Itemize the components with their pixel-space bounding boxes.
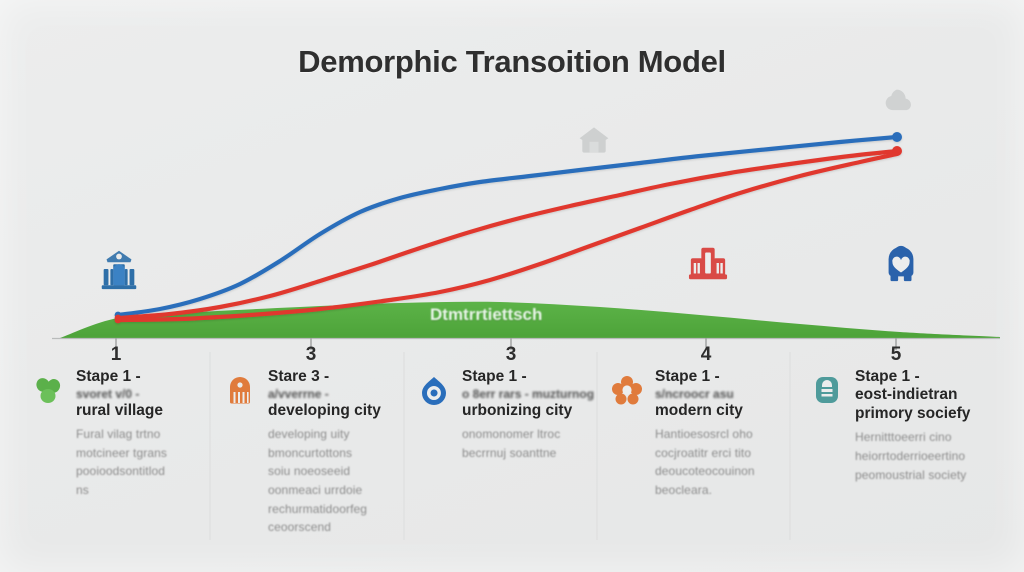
stage-body: Hernitttoeerri cino heiorrtoderrioeertin… (855, 428, 1010, 484)
stage-card-1[interactable]: Stape 1 - svoret v/0 - rural village Fur… (76, 368, 226, 500)
stage-heading: Stape 1 - (76, 368, 226, 386)
stage-list: Stape 1 - svoret v/0 - rural village Fur… (0, 368, 1024, 568)
axis-label-4: 4 (686, 344, 726, 366)
stage-card-4[interactable]: Stape 1 - s/ncroocr asu modern city Hant… (655, 368, 805, 500)
stage-heading: Stape 1 - (462, 368, 622, 386)
blue-temple-icon (96, 246, 142, 292)
stage-heading: Stape 1 - (855, 368, 1010, 386)
stage-body: Fural vilag trtno motcineer tgrans pooio… (76, 425, 226, 499)
stage-body: developing uity bmoncurtottons soiu noeo… (268, 425, 426, 537)
blue-curve-end-dot (892, 132, 902, 142)
stage-subtitle: modern city (655, 402, 805, 421)
infographic-canvas: Demorphic Transoition Model (0, 0, 1024, 572)
blue-person-icon (880, 242, 922, 284)
red-factory-icon (688, 243, 728, 283)
stage-subheading-blurred: a/vverrne - (268, 387, 426, 401)
stage-subtitle: developing city (268, 402, 426, 421)
axis-label-2: 3 (291, 344, 331, 366)
axis-label-1: 1 (96, 344, 136, 366)
stage-heading: Stape 1 - (655, 368, 805, 386)
band-label: Dtmtrrtiettsch (430, 305, 542, 325)
orange-flower-icon (611, 374, 643, 406)
stage-card-5[interactable]: Stape 1 - eost-indietran primory sociefy… (855, 368, 1010, 484)
teal-device-icon (811, 374, 843, 406)
stage-subtitle: urbonizing city (462, 402, 622, 421)
blue-droplet-icon (418, 374, 450, 406)
stage-subheading-blurred: o 8err rars - muzturnog (462, 387, 622, 401)
green-clover-icon (32, 374, 64, 406)
stage-card-2[interactable]: Stare 3 - a/vverrne - developing city de… (268, 368, 426, 537)
red-curve-lower-start-dot (115, 317, 122, 324)
stage-heading: Stare 3 - (268, 368, 426, 386)
gray-house-icon (576, 122, 612, 158)
stage-body: onomonomer ltroc becrrnuj soanttne (462, 425, 622, 462)
stage-subheading-blurred: s/ncroocr asu (655, 387, 805, 401)
red-curve-upper (118, 151, 897, 318)
stage-subtitle: eost-indietran primory sociefy (855, 386, 1010, 423)
orange-building-icon (224, 374, 256, 406)
stage-subtitle: rural village (76, 402, 226, 421)
axis-label-3: 3 (491, 344, 531, 366)
gray-cloud-icon (884, 86, 920, 120)
stage-body: Hantioesosrcl oho cocjroatitr erci tito … (655, 425, 805, 499)
stage-subheading-blurred: svoret v/0 - (76, 387, 226, 401)
axis-label-5: 5 (876, 344, 916, 366)
stage-card-3[interactable]: Stape 1 - o 8err rars - muzturnog urboni… (462, 368, 622, 462)
curve-layer (115, 132, 902, 323)
